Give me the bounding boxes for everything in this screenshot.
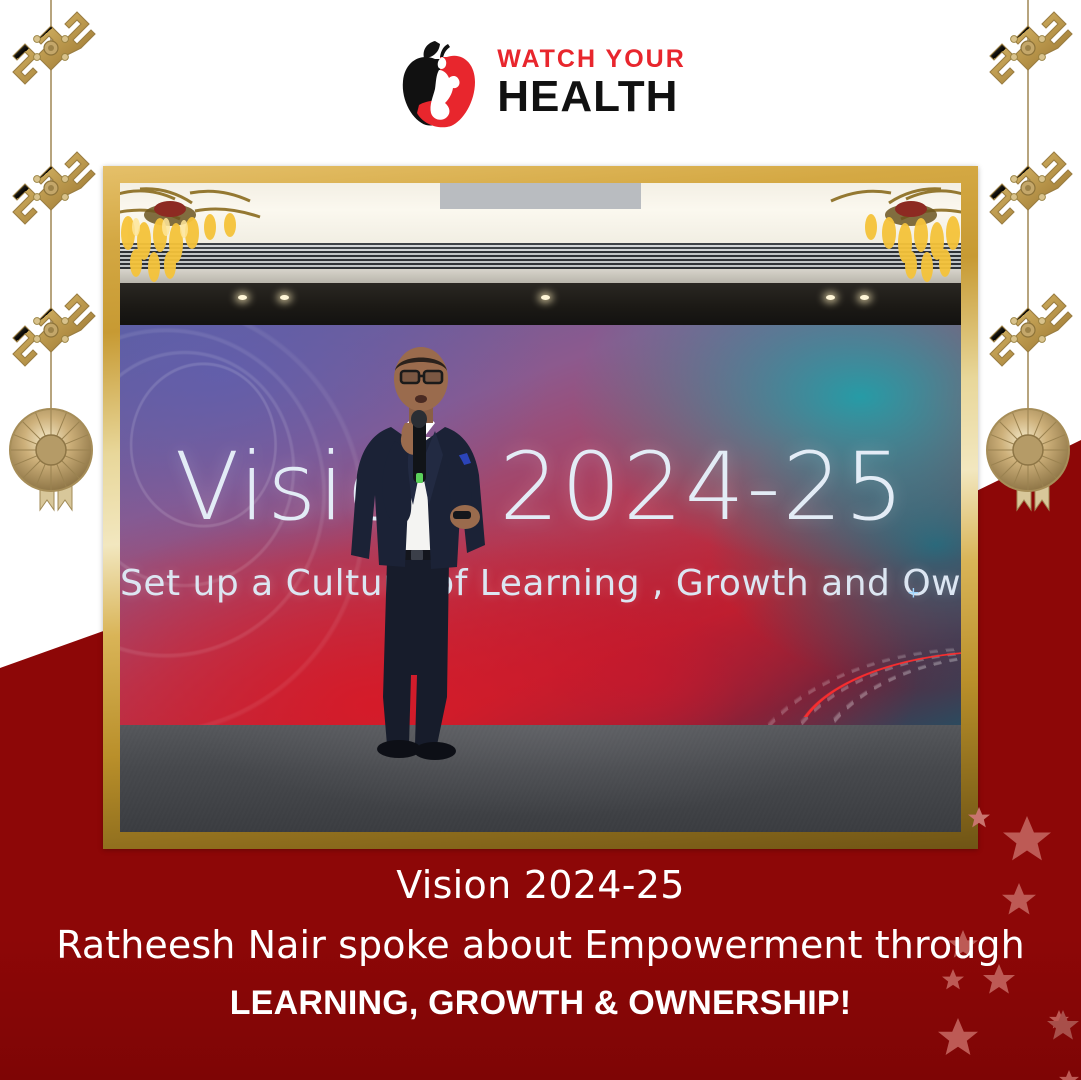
gold-knot-motif — [13, 12, 95, 84]
gold-knot-motif — [990, 12, 1072, 84]
gold-photo-frame: Vision 2024-25 Set up a Culture of Learn… — [103, 166, 978, 849]
gold-knot-motif — [990, 152, 1072, 224]
caption-line-3: LEARNING, GROWTH & OWNERSHIP! — [0, 986, 1081, 1020]
crystal-chandelier-left — [120, 185, 270, 290]
stage-spotlight — [541, 295, 550, 300]
crystal-chandelier-right — [811, 185, 961, 290]
caption-line-1: Vision 2024-25 — [0, 866, 1081, 904]
caption-block: Vision 2024-25 Ratheesh Nair spoke about… — [0, 866, 1081, 1020]
stage-spotlight — [280, 295, 289, 300]
logo-text-bottom: HEALTH — [497, 75, 686, 119]
apple-fitness-logo-icon — [395, 37, 481, 129]
led-screen-subtitle: Set up a Culture of Learning , Growth an… — [120, 563, 961, 604]
caption-line-2: Ratheesh Nair spoke about Empowerment th… — [0, 926, 1081, 964]
hanging-gold-ornament-right — [961, 0, 1081, 520]
led-screen: Vision 2024-25 Set up a Culture of Learn… — [120, 325, 961, 725]
led-red-swoosh — [625, 613, 961, 717]
hanging-gold-ornament-left — [0, 0, 120, 520]
poster-canvas: WATCH YOUR HEALTH — [0, 0, 1081, 1080]
stage-carpet-floor — [120, 725, 961, 832]
led-plus-mark: + — [908, 583, 919, 605]
stage-spotlight — [238, 295, 247, 300]
gold-knot-motif — [13, 294, 95, 366]
speaker-silhouette — [325, 345, 510, 785]
gold-knot-motif — [13, 152, 95, 224]
gold-rosette-medallion — [987, 409, 1069, 491]
conference-stage-photo: Vision 2024-25 Set up a Culture of Learn… — [120, 183, 961, 832]
gold-rosette-medallion — [10, 409, 92, 491]
brand-logo: WATCH YOUR HEALTH — [0, 30, 1081, 135]
ceiling-panel — [440, 183, 642, 209]
logo-text-top: WATCH YOUR — [497, 47, 686, 72]
led-screen-title: Vision 2024-25 — [120, 433, 961, 542]
gold-knot-motif — [990, 294, 1072, 366]
